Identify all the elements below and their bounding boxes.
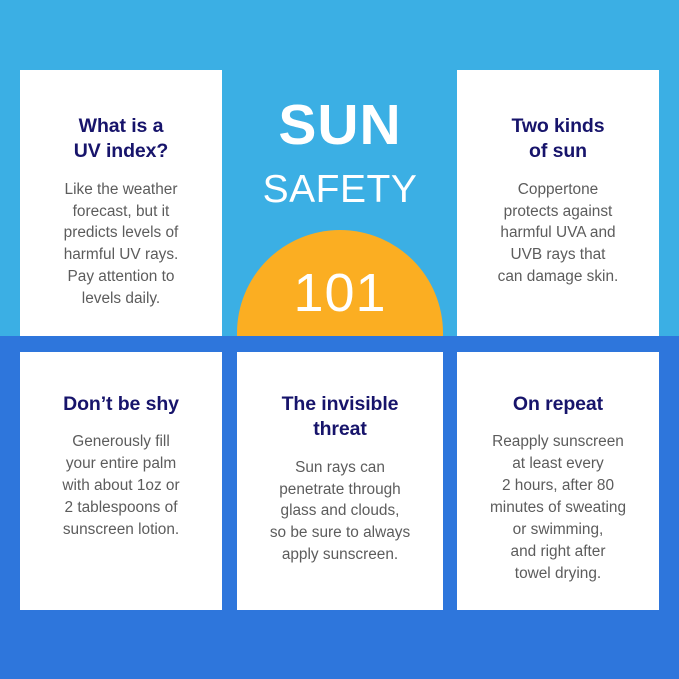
card-invisible-threat-heading: The invisiblethreat: [282, 392, 399, 443]
card-two-kinds-of-sun-heading: Two kindsof sun: [512, 114, 605, 165]
card-uv-index-body: Like the weatherforecast, but itpredicts…: [64, 179, 179, 310]
logo-title-line1: SUN: [237, 97, 443, 154]
logo-title-line2: SAFETY: [237, 170, 443, 209]
card-dont-be-shy: Don’t be shy Generously fillyour entire …: [20, 352, 222, 610]
card-dont-be-shy-heading: Don’t be shy: [63, 392, 179, 417]
card-on-repeat: On repeat Reapply sunscreenat least ever…: [457, 352, 659, 610]
card-on-repeat-heading: On repeat: [513, 392, 603, 417]
card-dont-be-shy-body: Generously fillyour entire palmwith abou…: [62, 431, 179, 540]
card-uv-index: What is aUV index? Like the weatherforec…: [20, 70, 222, 336]
card-two-kinds-of-sun: Two kindsof sun Coppertoneprotects again…: [457, 70, 659, 336]
logo-number: 101: [237, 266, 443, 320]
logo-block: SUN SAFETY 101: [237, 70, 443, 336]
sun-safety-infographic: What is aUV index? Like the weatherforec…: [0, 0, 679, 679]
card-two-kinds-of-sun-body: Coppertoneprotects againstharmful UVA an…: [498, 179, 619, 288]
card-on-repeat-body: Reapply sunscreenat least every2 hours, …: [490, 431, 626, 584]
card-uv-index-heading: What is aUV index?: [74, 114, 168, 165]
card-invisible-threat: The invisiblethreat Sun rays canpenetrat…: [237, 352, 443, 610]
card-invisible-threat-body: Sun rays canpenetrate throughglass and c…: [270, 457, 410, 566]
